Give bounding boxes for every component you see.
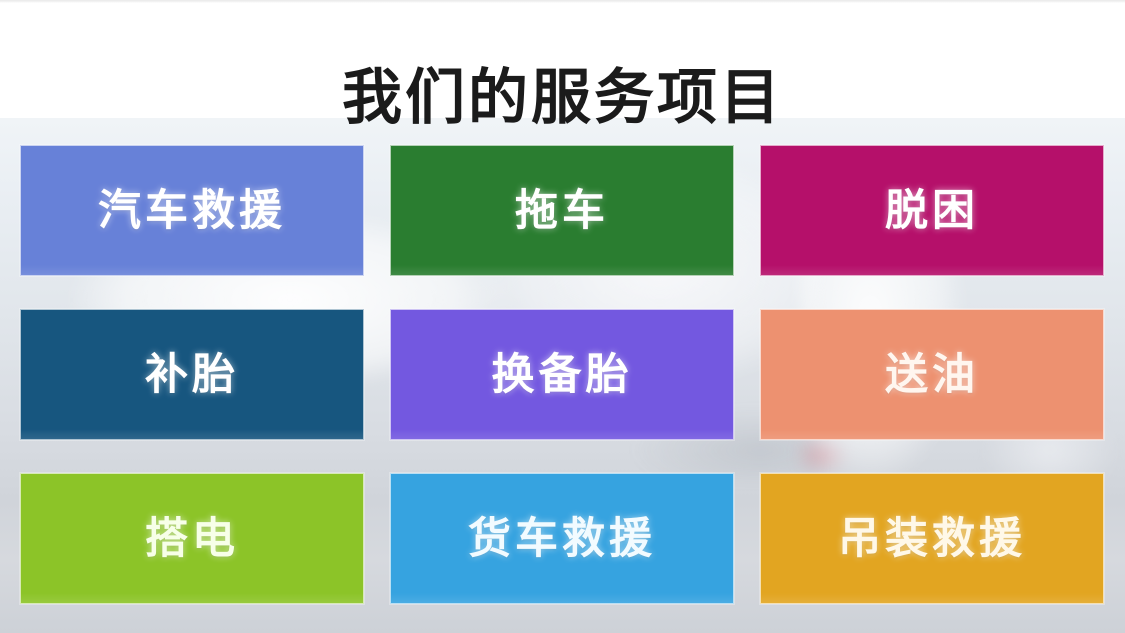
service-tile-diaozhuangjiuyuan[interactable]: 吊装救援 (760, 473, 1104, 604)
service-tile-tuoche[interactable]: 拖车 (390, 145, 734, 276)
service-tile-qichejiuyuan[interactable]: 汽车救援 (20, 145, 364, 276)
service-tile-label: 换备胎 (492, 350, 633, 400)
page-title: 我们的服务项目 (0, 62, 1125, 134)
service-grid: 汽车救援 拖车 脱困 补胎 换备胎 送油 搭电 货车救援 吊装救援 (20, 145, 1105, 603)
service-tile-tuokun[interactable]: 脱困 (760, 145, 1104, 276)
top-divider-line (0, 0, 1125, 3)
service-tile-label: 送油 (885, 350, 979, 400)
service-tile-dadian[interactable]: 搭电 (20, 473, 364, 604)
service-tile-label: 脱困 (885, 186, 979, 236)
service-tile-label: 搭电 (145, 514, 239, 564)
service-tile-label: 汽车救援 (98, 186, 286, 236)
service-tile-label: 补胎 (145, 350, 239, 400)
service-tile-label: 拖车 (515, 186, 609, 236)
service-tile-label: 货车救援 (468, 514, 656, 564)
service-tile-songyou[interactable]: 送油 (760, 309, 1104, 440)
service-poster: 我们的服务项目 汽车救援 拖车 脱困 补胎 换备胎 送油 搭电 货车救援 吊装救… (0, 0, 1125, 633)
service-tile-huochejiuyuan[interactable]: 货车救援 (390, 473, 734, 604)
service-tile-butai[interactable]: 补胎 (20, 309, 364, 440)
service-tile-huanbeitai[interactable]: 换备胎 (390, 309, 734, 440)
service-tile-label: 吊装救援 (838, 514, 1026, 564)
